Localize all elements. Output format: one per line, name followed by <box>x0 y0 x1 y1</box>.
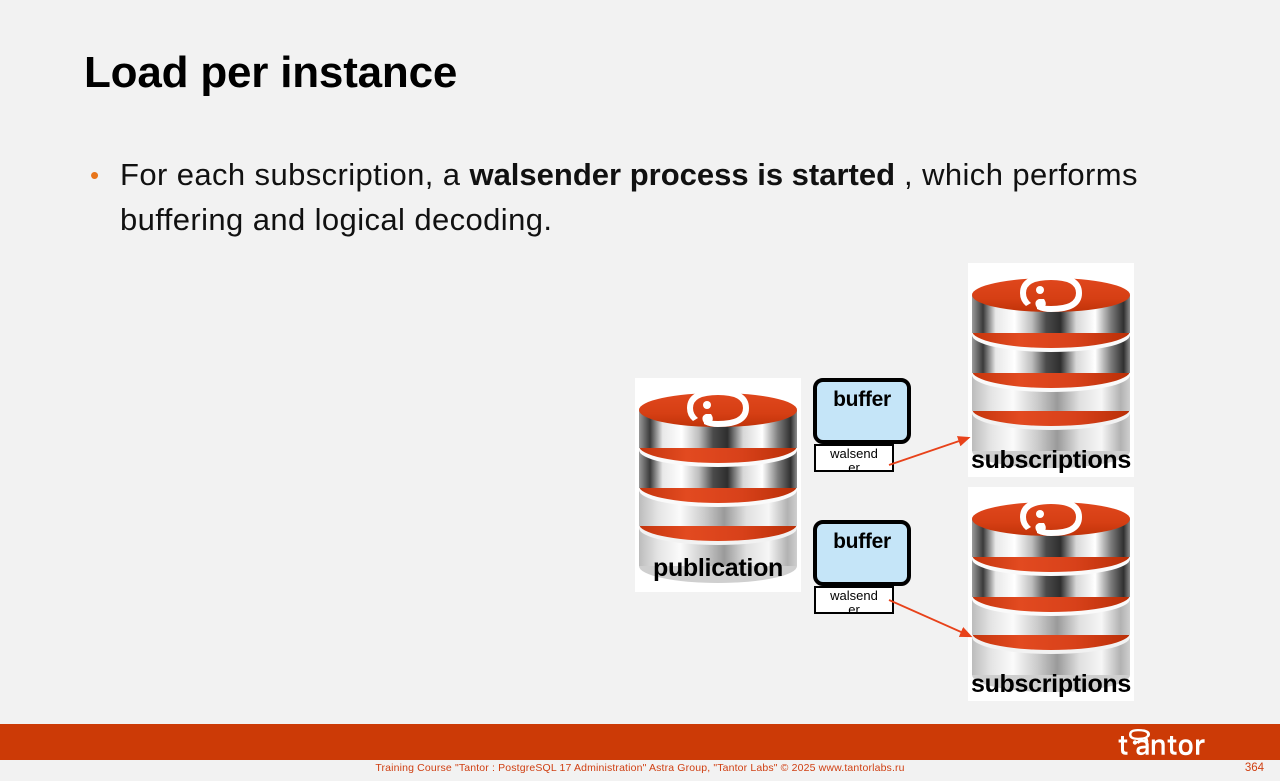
publication-label: publication <box>653 554 783 583</box>
publication-database-node: publication <box>635 378 801 592</box>
architecture-diagram: publication <box>0 0 1280 724</box>
buffer-box-bottom: buffer <box>813 520 911 586</box>
database-cylinder-icon <box>968 487 1134 701</box>
buffer-label-top: buffer <box>833 388 891 440</box>
footer-accent-bar <box>0 724 1280 760</box>
tantor-logo-icon <box>1118 727 1234 758</box>
walsender-label-top: walsender <box>828 446 880 472</box>
walsender-process-bottom: walsender <box>814 586 894 614</box>
walsender-label-bottom: walsender <box>828 588 880 614</box>
subscription-database-node-top: subscriptions <box>968 263 1134 477</box>
subscription-database-node-bottom: subscriptions <box>968 487 1134 701</box>
footer-credit-text: Training Course "Tantor : PostgreSQL 17 … <box>0 762 1280 774</box>
buffer-label-bottom: buffer <box>833 530 891 582</box>
flow-arrow-top <box>888 432 978 468</box>
subscriptions-label-bottom: subscriptions <box>971 670 1131 699</box>
database-cylinder-icon <box>968 263 1134 477</box>
page-number: 364 <box>1245 762 1264 774</box>
walsender-process-top: walsender <box>814 444 894 472</box>
subscriptions-label-top: subscriptions <box>971 446 1131 475</box>
flow-arrow-bottom <box>888 596 983 644</box>
